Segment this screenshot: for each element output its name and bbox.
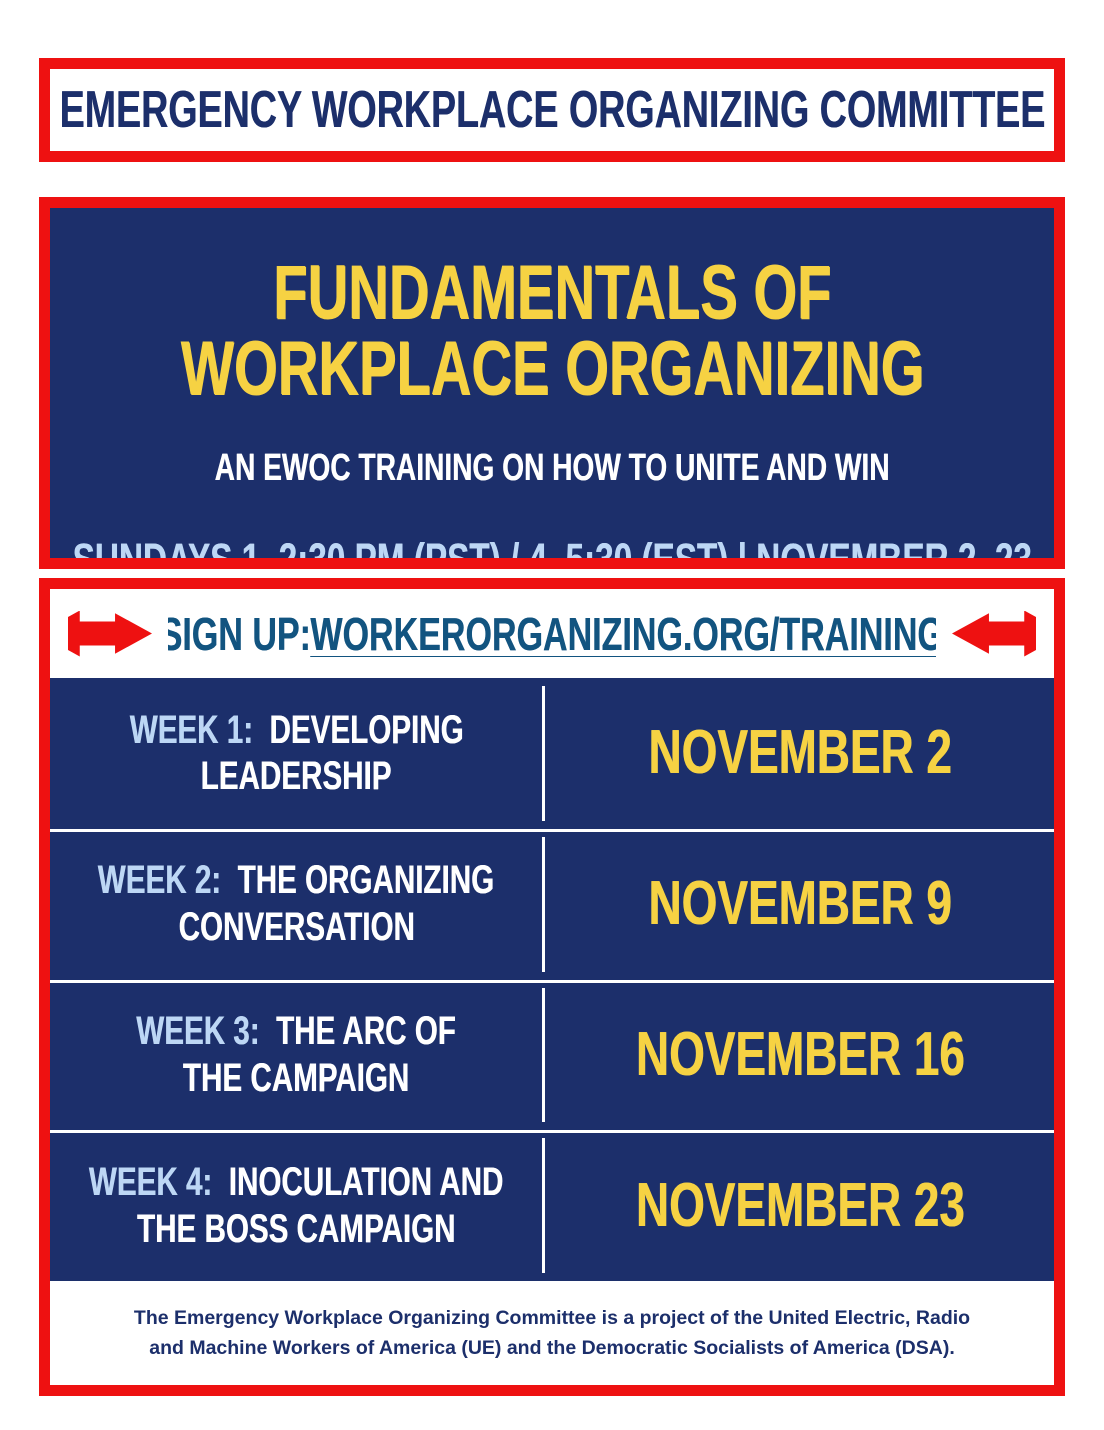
hero-title-line-2: WORKPLACE ORGANIZING [180,332,924,406]
signup-and-schedule-block: SIGN UP: WORKERORGANIZING.ORG/TRAINING W… [39,578,1065,1396]
table-row: WEEK 4: INOCULATION AND THE BOSS CAMPAIG… [50,1130,1054,1281]
session-date-cell: NOVEMBER 2 [545,678,1054,829]
session-date: NOVEMBER 2 [648,722,951,784]
table-row: WEEK 1: DEVELOPING LEADERSHIP NOVEMBER 2 [50,678,1054,829]
session-topic-cell: WEEK 1: DEVELOPING LEADERSHIP [50,678,542,829]
session-week-label: WEEK 1: [129,708,261,752]
session-date: NOVEMBER 16 [635,1024,964,1086]
session-topic-text-1: INOCULATION AND [229,1160,504,1204]
session-topic-cell: WEEK 2: THE ORGANIZING CONVERSATION [50,829,542,980]
session-date-cell: NOVEMBER 9 [545,829,1054,980]
session-topic-line-2: THE CAMPAIGN [183,1058,409,1099]
session-topic-line-2: THE BOSS CAMPAIGN [137,1209,455,1250]
arrow-right-icon [68,611,152,657]
session-week-label: WEEK 4: [89,1160,221,1204]
organization-header-box: EMERGENCY WORKPLACE ORGANIZING COMMITTEE [39,58,1065,162]
table-row: WEEK 2: THE ORGANIZING CONVERSATION NOVE… [50,829,1054,980]
footer-line-2: and Machine Workers of America (UE) and … [149,1333,955,1363]
session-week-label: WEEK 2: [98,858,230,902]
organization-name: EMERGENCY WORKPLACE ORGANIZING COMMITTEE [59,84,1045,136]
session-date-cell: NOVEMBER 23 [545,1130,1054,1281]
signup-bar[interactable]: SIGN UP: WORKERORGANIZING.ORG/TRAINING [50,589,1054,678]
session-topic-text-1: DEVELOPING [269,708,463,752]
hero-subtitle: AN EWOC TRAINING ON HOW TO UNITE AND WIN [215,449,890,487]
hero-schedule-line: SUNDAYS 1–2:30 PM (PST) / 4–5:30 (EST) |… [72,537,1031,569]
session-topic-line-1: WEEK 2: THE ORGANIZING [98,860,495,901]
session-topic-line-1: WEEK 1: DEVELOPING [129,710,463,751]
session-week-label: WEEK 3: [136,1009,268,1053]
session-topic-cell: WEEK 3: THE ARC OF THE CAMPAIGN [50,980,542,1131]
session-topic-cell: WEEK 4: INOCULATION AND THE BOSS CAMPAIG… [50,1130,542,1281]
session-date: NOVEMBER 9 [648,873,951,935]
session-topic-line-2: CONVERSATION [178,907,414,948]
flyer-poster: EMERGENCY WORKPLACE ORGANIZING COMMITTEE… [0,0,1104,1430]
hero-title-line-1: FUNDAMENTALS OF [273,256,831,330]
signup-url-link[interactable]: WORKERORGANIZING.ORG/TRAINING [311,611,936,657]
session-date-cell: NOVEMBER 16 [545,980,1054,1131]
table-row: WEEK 3: THE ARC OF THE CAMPAIGN NOVEMBER… [50,980,1054,1131]
arrow-left-icon [952,611,1036,657]
signup-text-group: SIGN UP: WORKERORGANIZING.ORG/TRAINING [168,611,936,657]
footer-line-1: The Emergency Workplace Organizing Commi… [134,1303,970,1333]
schedule-table: WEEK 1: DEVELOPING LEADERSHIP NOVEMBER 2… [50,678,1054,1281]
session-topic-line-2: LEADERSHIP [201,756,392,797]
hero-title-box: FUNDAMENTALS OF WORKPLACE ORGANIZING AN … [39,197,1065,569]
footer-disclaimer: The Emergency Workplace Organizing Commi… [50,1281,1054,1385]
signup-label: SIGN UP: [168,611,311,657]
session-topic-text-1: THE ORGANIZING [237,858,494,902]
session-date: NOVEMBER 23 [635,1175,964,1237]
session-topic-text-1: THE ARC OF [276,1009,456,1053]
session-topic-line-1: WEEK 3: THE ARC OF [136,1011,456,1052]
session-topic-line-1: WEEK 4: INOCULATION AND [89,1162,503,1203]
